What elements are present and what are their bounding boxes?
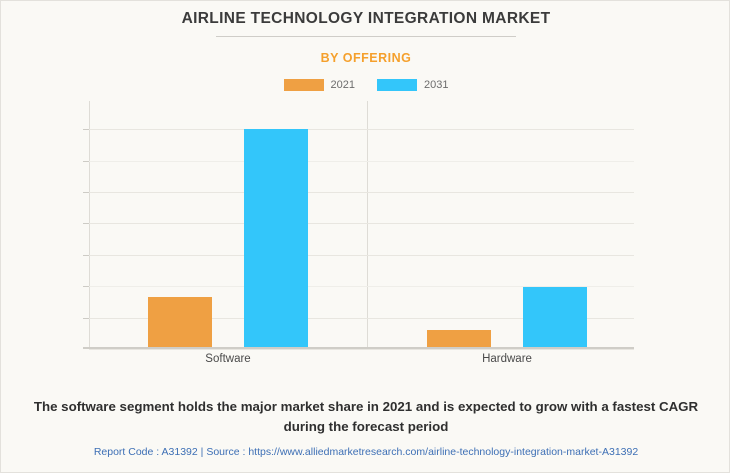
y-axis-tick — [83, 129, 89, 130]
legend-swatch-2021 — [284, 79, 324, 91]
bar-hardware-2031[interactable] — [523, 287, 587, 349]
source-separator: | — [201, 446, 204, 458]
gridline — [89, 161, 634, 162]
chart-legend: 2021 2031 — [1, 79, 730, 91]
plot-area — [89, 101, 634, 349]
legend-swatch-2031 — [377, 79, 417, 91]
y-axis-tick — [83, 223, 89, 224]
y-axis-tick — [83, 286, 89, 287]
source-line: Report Code : A31392 | Source : https://… — [1, 446, 730, 458]
legend-label-2021: 2021 — [331, 79, 355, 91]
y-axis-tick — [83, 192, 89, 193]
gridline — [89, 223, 634, 224]
gridline — [89, 349, 634, 350]
report-code: Report Code : A31392 — [94, 446, 198, 458]
legend-label-2031: 2031 — [424, 79, 448, 91]
title-divider — [216, 36, 516, 37]
y-axis-tick — [83, 318, 89, 319]
chart-canvas: AIRLINE TECHNOLOGY INTEGRATION MARKET BY… — [0, 0, 730, 473]
legend-item-2031[interactable]: 2031 — [377, 79, 448, 91]
x-axis-label-hardware: Hardware — [482, 353, 532, 365]
chart-subtitle: BY OFFERING — [1, 51, 730, 65]
legend-item-2021[interactable]: 2021 — [284, 79, 355, 91]
category-separator — [367, 101, 368, 349]
gridline — [89, 255, 634, 256]
chart-caption: The software segment holds the major mar… — [26, 397, 706, 437]
x-axis-label-software: Software — [205, 353, 250, 365]
x-axis-baseline — [83, 347, 634, 349]
y-axis-tick — [83, 255, 89, 256]
bar-software-2031[interactable] — [244, 129, 308, 349]
gridline — [89, 129, 634, 130]
bar-software-2021[interactable] — [148, 297, 212, 349]
source-url[interactable]: Source : https://www.alliedmarketresearc… — [206, 446, 638, 458]
y-axis-spine — [89, 101, 90, 349]
page-title: AIRLINE TECHNOLOGY INTEGRATION MARKET — [1, 10, 730, 28]
gridline — [89, 192, 634, 193]
y-axis-tick — [83, 161, 89, 162]
